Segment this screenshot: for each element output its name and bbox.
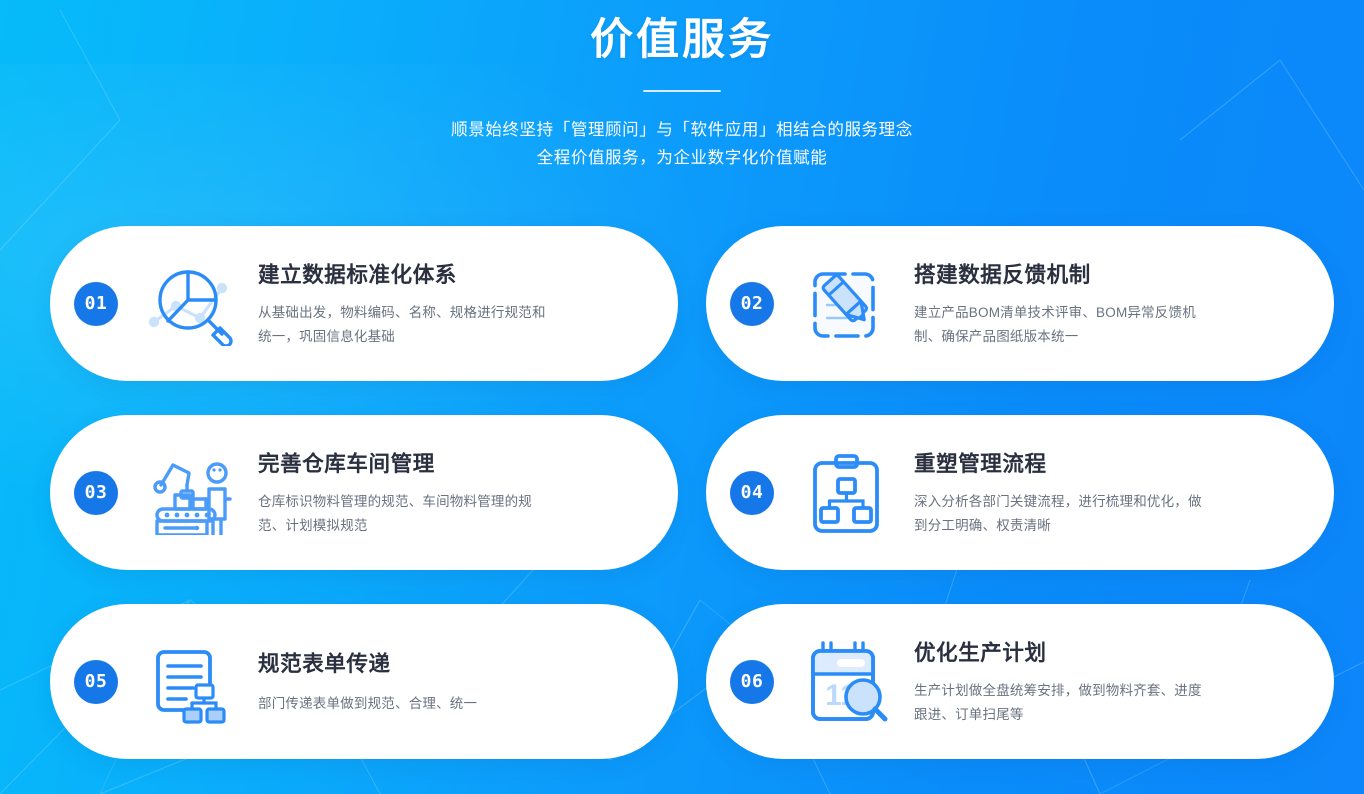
card-description-line-1: 部门传递表单做到规范、合理、统一 xyxy=(258,692,618,716)
card-description: 仓库标识物料管理的规范、车间物料管理的规 范、计划模拟规范 xyxy=(258,490,618,538)
card-number-badge: 05 xyxy=(74,660,118,704)
service-card[interactable]: 01 建立数据标准化体系 xyxy=(50,226,678,381)
document-flowchart-icon xyxy=(136,634,244,730)
card-number-badge: 03 xyxy=(74,471,118,515)
card-number-badge: 06 xyxy=(730,660,774,704)
card-description-line-1: 建立产品BOM清单技术评审、BOM异常反馈机 xyxy=(914,301,1274,325)
card-description: 深入分析各部门关键流程，进行梳理和优化，做 到分工明确、权责清晰 xyxy=(914,490,1274,538)
page-subtitle: 顺景始终坚持「管理顾问」与「软件应用」相结合的服务理念 全程价值服务，为企业数字… xyxy=(0,116,1364,172)
card-title: 建立数据标准化体系 xyxy=(258,258,644,289)
factory-conveyor-worker-icon xyxy=(136,445,244,541)
service-card[interactable]: 02 搭建数据反馈机制 建立产品BOM清单技术评审、BOM异常反馈机 制、确保产… xyxy=(706,226,1334,381)
card-description-line-1: 从基础出发，物料编码、名称、规格进行规范和 xyxy=(258,301,588,325)
card-text: 重塑管理流程 深入分析各部门关键流程，进行梳理和优化，做 到分工明确、权责清晰 xyxy=(900,447,1334,538)
pie-chart-magnifier-icon xyxy=(136,256,244,352)
card-description-line-2: 跟进、订单扫尾等 xyxy=(914,703,1274,727)
card-description-line-2: 范、计划模拟规范 xyxy=(258,514,618,538)
card-text: 搭建数据反馈机制 建立产品BOM清单技术评审、BOM异常反馈机 制、确保产品图纸… xyxy=(900,258,1334,349)
clipboard-orgchart-icon xyxy=(792,445,900,541)
card-text: 建立数据标准化体系 从基础出发，物料编码、名称、规格进行规范和 统一，巩固信息化… xyxy=(244,258,678,349)
subtitle-line-1: 顺景始终坚持「管理顾问」与「软件应用」相结合的服务理念 xyxy=(0,116,1364,144)
card-text: 完善仓库车间管理 仓库标识物料管理的规范、车间物料管理的规 范、计划模拟规范 xyxy=(244,447,678,538)
card-text: 优化生产计划 生产计划做全盘统筹安排，做到物料齐套、进度 跟进、订单扫尾等 xyxy=(900,636,1334,727)
card-title: 搭建数据反馈机制 xyxy=(914,258,1300,289)
card-description-line-2: 制、确保产品图纸版本统一 xyxy=(914,325,1274,349)
title-divider xyxy=(643,90,721,92)
card-description-line-1: 仓库标识物料管理的规范、车间物料管理的规 xyxy=(258,490,618,514)
service-card[interactable]: 04 重塑管理流程 深入分析各部门关键流程，进行梳理 xyxy=(706,415,1334,570)
document-pencil-icon xyxy=(792,256,900,352)
calendar-magnifier-icon: 11 xyxy=(792,634,900,730)
card-title: 优化生产计划 xyxy=(914,636,1300,667)
card-title: 完善仓库车间管理 xyxy=(258,447,644,478)
card-title: 重塑管理流程 xyxy=(914,447,1300,478)
service-card[interactable]: 05 规范表单传递 部门传递表单做到规范、 xyxy=(50,604,678,759)
page-header: 价值服务 顺景始终坚持「管理顾问」与「软件应用」相结合的服务理念 全程价值服务，… xyxy=(0,0,1364,172)
card-description: 从基础出发，物料编码、名称、规格进行规范和 统一，巩固信息化基础 xyxy=(258,301,588,349)
card-number-badge: 01 xyxy=(74,282,118,326)
card-description-line-2: 到分工明确、权责清晰 xyxy=(914,514,1274,538)
card-title: 规范表单传递 xyxy=(258,647,644,678)
card-description: 生产计划做全盘统筹安排，做到物料齐套、进度 跟进、订单扫尾等 xyxy=(914,679,1274,727)
card-number-badge: 02 xyxy=(730,282,774,326)
card-description: 部门传递表单做到规范、合理、统一 xyxy=(258,692,618,716)
service-card[interactable]: 03 xyxy=(50,415,678,570)
subtitle-line-2: 全程价值服务，为企业数字化价值赋能 xyxy=(0,144,1364,172)
card-description-line-1: 深入分析各部门关键流程，进行梳理和优化，做 xyxy=(914,490,1274,514)
card-number-badge: 04 xyxy=(730,471,774,515)
page-title: 价值服务 xyxy=(0,14,1364,68)
card-description-line-2: 统一，巩固信息化基础 xyxy=(258,325,588,349)
card-description: 建立产品BOM清单技术评审、BOM异常反馈机 制、确保产品图纸版本统一 xyxy=(914,301,1274,349)
card-description-line-1: 生产计划做全盘统筹安排，做到物料齐套、进度 xyxy=(914,679,1274,703)
service-card[interactable]: 06 11 优化生产计划 生产计划做全盘统筹安排，做到物料齐套、进度 xyxy=(706,604,1334,759)
card-text: 规范表单传递 部门传递表单做到规范、合理、统一 xyxy=(244,647,678,716)
service-cards-grid: 01 建立数据标准化体系 xyxy=(50,226,1334,759)
